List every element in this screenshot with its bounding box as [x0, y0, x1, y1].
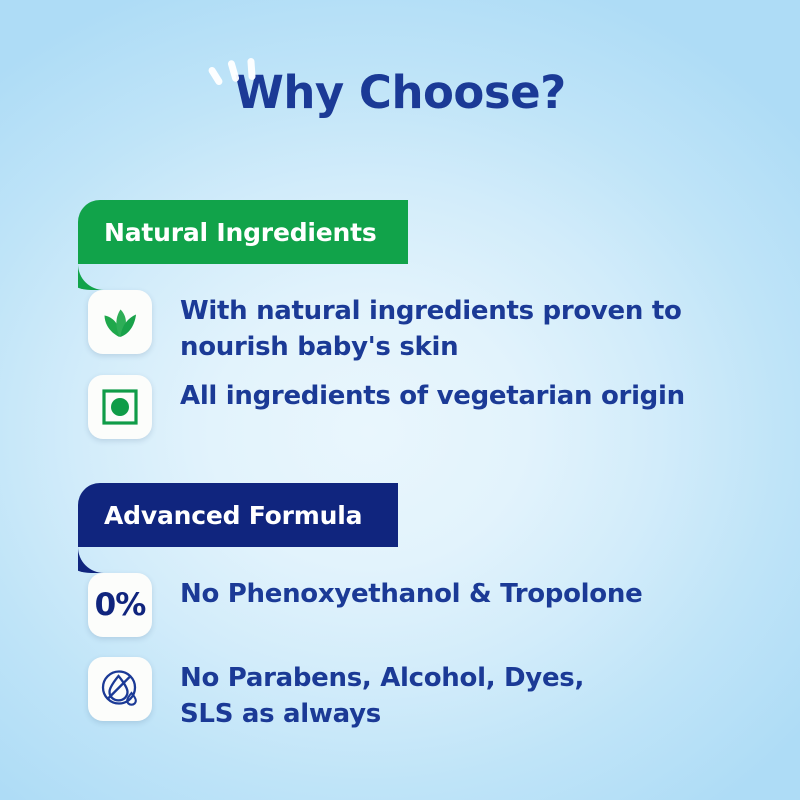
feature-text-line: No Phenoxyethanol & Tropolone: [180, 577, 642, 613]
zero-percent-icon: 0%: [95, 590, 146, 621]
leaves-icon: [99, 301, 141, 343]
banner-natural-shape: Natural Ingredients: [78, 200, 408, 264]
section-advanced-formula: Advanced Formula 0% No Phenoxyethanol & …: [0, 483, 800, 742]
sparkle-icon: [208, 54, 278, 94]
feature-row: No Parabens, Alcohol, Dyes, SLS as alway…: [0, 657, 800, 732]
no-droplet-icon-tile: [88, 657, 152, 721]
section-natural-ingredients: Natural Ingredients With natural ingr: [0, 200, 800, 459]
feature-text-line: All ingredients of vegetarian origin: [180, 379, 685, 415]
feature-text-line: With natural ingredients proven to: [180, 294, 682, 330]
vegetarian-mark-icon-tile: [88, 375, 152, 439]
sparkle-stroke-1: [207, 66, 224, 87]
zero-percent-icon-tile: 0%: [88, 573, 152, 637]
page-title: Why Choose?: [0, 70, 800, 115]
feature-text-line: SLS as always: [180, 697, 584, 733]
why-choose-poster: Why Choose? Natural Ingredients: [0, 0, 800, 800]
banner-advanced-shape: Advanced Formula: [78, 483, 398, 547]
sparkle-stroke-3: [247, 58, 256, 80]
no-droplet-icon: [98, 667, 142, 711]
feature-list-advanced: 0% No Phenoxyethanol & Tropolone: [0, 573, 800, 732]
feature-text-line: No Parabens, Alcohol, Dyes,: [180, 661, 584, 697]
banner-natural-label: Natural Ingredients: [104, 218, 377, 247]
banner-natural-ingredients: Natural Ingredients: [0, 200, 800, 266]
title-block: Why Choose?: [0, 70, 800, 115]
feature-text-line: nourish baby's skin: [180, 330, 682, 366]
banner-advanced-tail: [78, 547, 104, 573]
vegetarian-mark-icon: [100, 387, 140, 427]
banner-advanced-formula: Advanced Formula: [0, 483, 800, 549]
feature-row: All ingredients of vegetarian origin: [0, 375, 800, 449]
feature-row: 0% No Phenoxyethanol & Tropolone: [0, 573, 800, 647]
feature-list-natural: With natural ingredients proven to nouri…: [0, 290, 800, 449]
sparkle-stroke-2: [227, 59, 240, 82]
feature-text: All ingredients of vegetarian origin: [180, 375, 685, 415]
banner-advanced-label: Advanced Formula: [104, 501, 362, 530]
feature-text: No Phenoxyethanol & Tropolone: [180, 573, 642, 613]
feature-row: With natural ingredients proven to nouri…: [0, 290, 800, 365]
banner-natural-tail: [78, 264, 104, 290]
feature-text: No Parabens, Alcohol, Dyes, SLS as alway…: [180, 657, 584, 732]
leaves-icon-tile: [88, 290, 152, 354]
feature-text: With natural ingredients proven to nouri…: [180, 290, 682, 365]
